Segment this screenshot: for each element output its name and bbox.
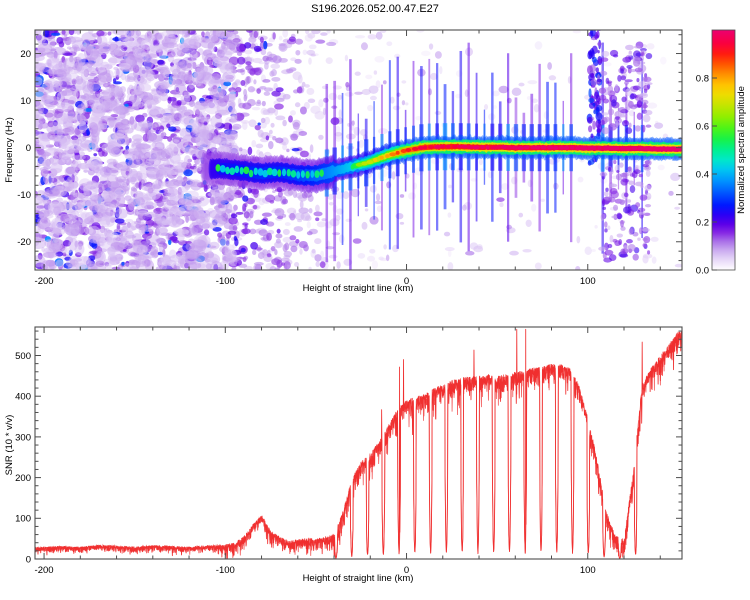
noise-speckle: [369, 85, 379, 93]
noise-speckle: [383, 244, 387, 249]
noise-speckle: [276, 98, 284, 102]
noise-speckle: [242, 203, 246, 211]
noise-speckle: [439, 66, 442, 74]
noise-speckle: [354, 92, 362, 95]
vertical-plume: [587, 117, 593, 124]
noise-speckle: [329, 202, 334, 205]
upper-scatter: [634, 169, 641, 174]
noise-speckle: [237, 57, 245, 65]
noise-speckle: [271, 77, 280, 82]
noise-speckle: [518, 83, 524, 87]
upper-scatter: [633, 254, 639, 261]
upper-scatter: [628, 244, 636, 251]
upper-scatter: [600, 172, 608, 176]
noise-speckle: [535, 41, 543, 50]
noise-halo: [63, 223, 74, 232]
noise-speckle: [259, 86, 266, 89]
noise-speckle: [258, 252, 265, 259]
noise-halo: [226, 203, 233, 213]
noise-speckle: [314, 254, 321, 262]
noise-halo: [61, 116, 76, 122]
noise-speckle: [351, 120, 354, 125]
noise-halo: [132, 58, 143, 69]
noise-speckle: [264, 91, 270, 95]
noise-halo: [161, 31, 176, 37]
noise-halo: [71, 210, 80, 219]
noise-speckle: [271, 123, 275, 128]
noise-halo: [119, 63, 131, 70]
noise-speckle: [518, 213, 523, 218]
upper-scatter: [624, 121, 628, 124]
noise-speckle: [358, 253, 366, 259]
noise-speckle: [298, 75, 303, 84]
noise-speckle: [310, 54, 315, 57]
upper-scatter: [608, 244, 613, 248]
noise-halo: [46, 57, 62, 68]
noise-speckle: [260, 37, 264, 43]
vertical-plume: [594, 92, 599, 100]
noise-halo: [127, 171, 143, 182]
noise-speckle: [578, 177, 584, 183]
noise-halo: [85, 95, 94, 104]
noise-halo: [48, 227, 62, 236]
noise-halo: [114, 47, 125, 56]
noise-halo: [75, 59, 82, 72]
vertical-plume: [597, 42, 601, 46]
upper-scatter: [628, 101, 634, 108]
noise-speckle: [273, 32, 276, 39]
noise-speckle: [252, 250, 256, 255]
noise-halo: [176, 105, 187, 112]
noise-speckle: [345, 55, 348, 62]
upper-scatter: [615, 121, 619, 128]
upper-scatter: [640, 92, 648, 98]
noise-halo: [45, 148, 59, 156]
noise-speckle: [283, 94, 291, 100]
noise-halo: [163, 159, 170, 172]
upper-scatter: [611, 215, 617, 218]
upper-scatter: [637, 238, 641, 241]
noise-halo: [124, 183, 130, 192]
noise-halo: [91, 160, 103, 168]
noise-halo: [190, 36, 200, 42]
noise-halo: [230, 109, 237, 122]
noise-speckle: [307, 231, 313, 235]
noise-speckle: [376, 32, 383, 40]
upper-scatter: [628, 181, 634, 185]
upper-scatter: [640, 194, 648, 200]
upper-scatter: [610, 188, 618, 195]
noise-speckle: [204, 229, 209, 235]
noise-halo: [102, 190, 116, 201]
noise-halo: [64, 147, 72, 154]
noise-halo: [36, 62, 46, 70]
noise-speckle: [332, 232, 340, 235]
noise-halo: [75, 76, 83, 85]
noise-speckle: [245, 61, 251, 65]
noise-speckle: [370, 185, 377, 192]
noise-speckle: [88, 73, 96, 76]
noise-halo: [124, 41, 140, 48]
noise-halo: [81, 32, 95, 44]
noise-speckle: [242, 195, 248, 201]
noise-speckle: [245, 50, 253, 55]
noise-halo: [162, 220, 171, 225]
upper-scatter: [624, 81, 629, 84]
noise-speckle: [479, 159, 483, 165]
vertical-plume: [589, 51, 592, 58]
noise-speckle: [246, 76, 250, 84]
noise-halo: [184, 123, 197, 128]
noise-halo: [146, 71, 156, 82]
vertical-plume: [596, 31, 600, 39]
noise-halo: [202, 221, 208, 229]
noise-halo: [42, 160, 51, 167]
noise-speckle: [535, 262, 542, 269]
noise-speckle: [248, 86, 255, 92]
noise-halo: [173, 160, 187, 170]
noise-speckle: [281, 262, 285, 265]
upper-scatter: [638, 212, 645, 215]
vertical-plume: [588, 88, 591, 97]
upper-scatter: [623, 206, 631, 213]
upper-scatter: [608, 167, 611, 172]
noise-speckle: [295, 102, 300, 107]
upper-scatter: [645, 82, 653, 85]
noise-speckle: [326, 57, 333, 64]
upper-scatter: [635, 182, 644, 187]
noise-halo: [137, 214, 145, 221]
noise-halo: [38, 209, 53, 216]
noise-speckle: [217, 233, 222, 238]
noise-speckle: [509, 251, 519, 256]
noise-speckle: [93, 153, 97, 156]
noise-speckle: [295, 50, 300, 56]
noise-halo: [113, 106, 128, 115]
noise-halo: [131, 142, 145, 149]
noise-speckle: [274, 103, 284, 109]
spectrogram-panel: -200-1000100-20-1001020 Height of straig…: [4, 25, 684, 294]
noise-speckle: [298, 208, 308, 214]
noise-halo: [103, 90, 111, 101]
noise-speckle: [484, 104, 488, 110]
noise-halo: [115, 208, 128, 219]
noise-speckle: [315, 217, 319, 221]
upper-scatter: [643, 114, 651, 122]
noise-speckle: [293, 122, 300, 130]
noise-speckle: [157, 60, 164, 65]
noise-halo: [226, 139, 236, 145]
noise-speckle: [274, 208, 284, 216]
upper-scatter: [607, 225, 610, 230]
upper-scatter: [605, 188, 608, 192]
noise-speckle: [400, 194, 404, 198]
upper-scatter: [609, 184, 617, 188]
noise-speckle: [281, 258, 290, 262]
upper-scatter: [626, 65, 632, 69]
noise-halo: [105, 83, 114, 90]
noise-speckle: [320, 261, 326, 268]
noise-speckle: [267, 108, 276, 114]
noise-speckle: [355, 35, 365, 38]
noise-speckle: [253, 205, 257, 210]
noise-halo: [136, 153, 148, 166]
noise-speckle: [308, 58, 312, 65]
noise-halo: [95, 212, 104, 218]
figure-title: S196.2026.052.00.47.E27: [311, 3, 439, 15]
upper-scatter: [646, 125, 652, 128]
noise-speckle: [262, 79, 270, 83]
noise-speckle: [421, 51, 431, 56]
noise-halo: [116, 176, 126, 182]
noise-halo: [170, 193, 178, 204]
noise-halo: [60, 90, 74, 96]
noise-halo: [145, 201, 153, 207]
upper-scatter: [625, 45, 634, 50]
noise-halo: [211, 115, 223, 128]
noise-speckle: [290, 110, 296, 115]
noise-speckle: [652, 256, 657, 263]
noise-speckle: [275, 116, 285, 121]
noise-speckle: [355, 72, 361, 76]
upper-scatter: [601, 213, 605, 221]
noise-halo: [45, 188, 61, 197]
noise-speckle: [345, 82, 349, 88]
noise-speckle: [374, 70, 377, 74]
noise-halo: [157, 226, 168, 236]
upper-scatter: [608, 109, 614, 116]
noise-halo: [148, 35, 155, 44]
noise-speckle: [313, 211, 322, 216]
noise-halo: [197, 124, 206, 133]
noise-halo: [64, 142, 79, 147]
noise-speckle: [257, 100, 261, 104]
noise-speckle: [277, 216, 283, 220]
upper-scatter: [642, 243, 646, 247]
upper-scatter: [647, 250, 650, 254]
noise-speckle: [392, 171, 396, 180]
noise-speckle: [270, 64, 280, 69]
noise-halo: [208, 43, 216, 53]
noise-halo: [113, 89, 122, 99]
noise-speckle: [499, 202, 503, 207]
vertical-plume: [592, 120, 596, 129]
noise-speckle: [244, 211, 250, 218]
noise-speckle: [257, 123, 260, 126]
noise-halo: [229, 90, 236, 102]
noise-speckle: [444, 232, 450, 237]
noise-speckle: [249, 211, 253, 218]
upper-scatter: [620, 220, 624, 227]
noise-speckle: [278, 191, 283, 197]
noise-speckle: [269, 71, 274, 77]
noise-halo: [195, 136, 204, 145]
upper-scatter: [609, 254, 616, 261]
noise-speckle: [527, 96, 531, 100]
noise-speckle: [286, 69, 293, 74]
noise-speckle: [367, 105, 373, 111]
noise-halo: [185, 200, 194, 210]
noise-halo: [117, 135, 129, 145]
noise-halo: [181, 72, 192, 83]
noise-halo: [130, 120, 137, 130]
noise-speckle: [448, 212, 452, 217]
noise-speckle: [283, 229, 290, 235]
noise-halo: [169, 255, 184, 263]
noise-speckle: [56, 37, 63, 44]
noise-halo: [100, 167, 112, 178]
noise-speckle: [448, 185, 452, 189]
noise-speckle: [299, 249, 302, 255]
noise-speckle: [315, 40, 325, 44]
noise-halo: [163, 68, 170, 80]
upper-scatter: [618, 107, 625, 113]
noise-speckle: [594, 225, 597, 229]
noise-speckle: [263, 41, 267, 50]
upper-scatter: [645, 204, 651, 207]
upper-scatter: [604, 228, 607, 232]
noise-speckle: [282, 199, 288, 205]
noise-speckle: [312, 249, 316, 254]
noise-speckle: [386, 254, 389, 261]
upper-scatter: [633, 57, 641, 64]
noise-speckle: [262, 212, 272, 216]
noise-halo: [179, 129, 190, 137]
upper-scatter: [606, 78, 610, 84]
noise-speckle: [318, 135, 324, 140]
upper-scatter: [613, 205, 618, 211]
noise-halo: [90, 233, 101, 240]
noise-halo: [116, 162, 127, 169]
noise-halo: [159, 47, 168, 60]
noise-halo: [95, 251, 106, 264]
noise-speckle: [298, 131, 307, 136]
upper-scatter: [645, 185, 652, 191]
noise-speckle: [317, 221, 326, 227]
noise-speckle: [289, 235, 296, 240]
noise-halo: [172, 59, 185, 66]
noise-speckle: [248, 147, 253, 155]
noise-halo: [163, 42, 178, 48]
noise-speckle: [302, 192, 308, 198]
noise-halo: [67, 37, 83, 43]
noise-speckle: [269, 200, 274, 204]
noise-halo: [114, 188, 124, 199]
noise-speckle: [228, 231, 237, 235]
noise-speckle: [326, 42, 336, 46]
noise-halo: [193, 207, 204, 219]
noise-halo: [217, 102, 229, 114]
noise-speckle: [107, 31, 111, 35]
noise-halo: [57, 214, 71, 222]
noise-speckle: [292, 148, 300, 151]
noise-speckle: [177, 100, 182, 105]
upper-scatter: [641, 52, 645, 56]
noise-speckle: [277, 229, 281, 234]
noise-halo: [108, 57, 117, 66]
noise-speckle: [282, 120, 287, 127]
noise-halo: [165, 180, 180, 188]
upper-scatter: [610, 50, 618, 57]
upper-scatter: [609, 235, 613, 243]
upper-scatter: [602, 207, 606, 210]
noise-speckle: [670, 173, 680, 181]
noise-speckle: [276, 87, 284, 92]
vertical-plume: [591, 79, 598, 86]
noise-halo: [164, 114, 174, 121]
noise-speckle: [540, 199, 545, 202]
noise-halo: [89, 122, 98, 134]
noise-speckle: [576, 236, 580, 243]
noise-speckle: [315, 205, 320, 212]
noise-speckle: [473, 246, 483, 253]
noise-halo: [87, 79, 101, 92]
noise-halo: [190, 181, 201, 190]
noise-speckle: [231, 214, 238, 219]
upper-scatter: [622, 57, 631, 63]
noise-halo: [145, 159, 155, 164]
noise-speckle: [405, 102, 408, 105]
upper-scatter: [635, 125, 641, 131]
noise-speckle: [660, 57, 667, 65]
noise-speckle: [368, 34, 377, 39]
noise-speckle: [307, 221, 311, 228]
noise-speckle: [115, 218, 125, 223]
vertical-plume: [597, 79, 602, 82]
noise-halo: [189, 262, 202, 269]
noise-speckle: [365, 208, 369, 211]
upper-scatter: [628, 50, 632, 57]
noise-halo: [180, 95, 190, 103]
noise-speckle: [261, 118, 266, 123]
upper-scatter: [625, 127, 632, 134]
noise-speckle: [289, 36, 296, 41]
noise-halo: [210, 87, 224, 99]
noise-speckle: [522, 249, 531, 252]
noise-speckle: [668, 191, 673, 196]
noise-speckle: [262, 56, 268, 62]
noise-speckle: [320, 32, 328, 36]
noise-speckle: [527, 80, 537, 84]
noise-speckle: [286, 149, 289, 153]
noise-halo: [107, 116, 115, 129]
noise-halo: [43, 173, 54, 185]
noise-halo: [95, 203, 108, 213]
upper-scatter: [621, 75, 627, 80]
noise-halo: [65, 166, 79, 177]
figure-root: S196.2026.052.00.47.E27 -200-1000100-20-…: [0, 0, 750, 600]
noise-halo: [100, 122, 107, 129]
noise-halo: [197, 116, 212, 122]
upper-scatter: [617, 233, 623, 237]
noise-speckle: [252, 107, 261, 110]
noise-speckle: [254, 31, 259, 38]
noise-speckle: [251, 140, 256, 147]
noise-speckle: [260, 219, 268, 225]
noise-halo: [226, 253, 234, 265]
noise-speckle: [642, 255, 648, 264]
noise-speckle: [646, 43, 654, 49]
noise-speckle: [266, 233, 272, 241]
noise-speckle: [401, 80, 406, 83]
noise-halo: [83, 189, 90, 198]
noise-halo: [50, 162, 62, 173]
noise-speckle: [276, 239, 281, 244]
noise-speckle: [465, 251, 474, 256]
noise-halo: [148, 134, 163, 142]
noise-speckle: [290, 245, 297, 252]
upper-scatter: [643, 76, 648, 82]
